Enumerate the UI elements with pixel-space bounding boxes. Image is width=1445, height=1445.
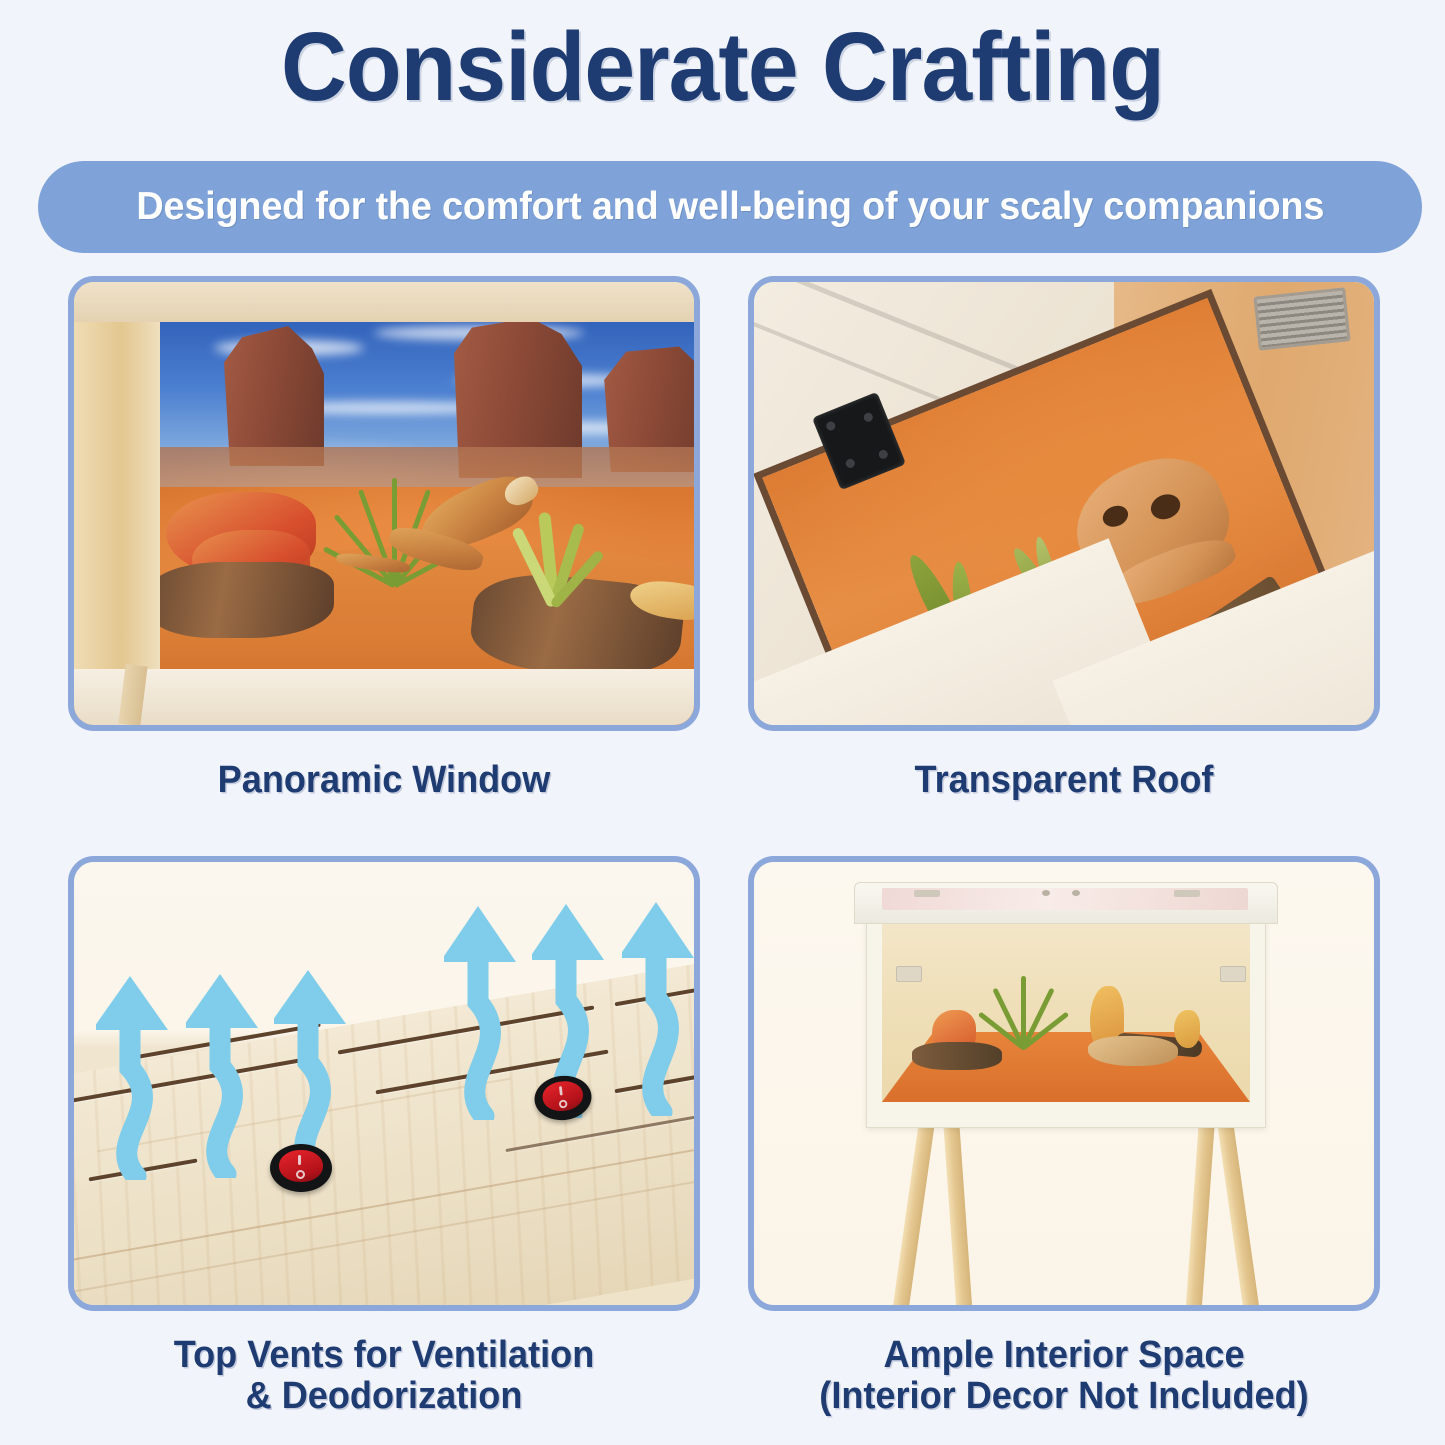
switch-on-marking (559, 1086, 563, 1095)
decor-rock (1088, 1036, 1178, 1066)
feature-card-panoramic-window (68, 276, 700, 731)
side-vent (1220, 966, 1246, 982)
mesa-rock-formation (224, 326, 324, 466)
feature-grid: Panoramic Window (0, 0, 1445, 1445)
photo-top-vents (74, 862, 694, 1305)
caption-ample-interior-space: Ample Interior Space (Interior Decor Not… (745, 1335, 1383, 1417)
caption-transparent-roof: Transparent Roof (764, 760, 1364, 801)
switch-on-marking (298, 1155, 301, 1165)
airflow-arrow-icon (186, 948, 270, 1178)
feature-card-ample-interior-space (748, 856, 1380, 1311)
switch-off-marking (559, 1099, 568, 1108)
power-switch[interactable] (1072, 890, 1080, 896)
photo-transparent-roof (754, 282, 1374, 725)
switch-off-marking (296, 1170, 305, 1179)
airflow-arrow-icon (96, 950, 180, 1180)
ventilation-grille (1253, 287, 1350, 350)
decor-small-reptile (1174, 1010, 1200, 1048)
cabinet-left-frame (74, 282, 160, 674)
caption-panoramic-window: Panoramic Window (84, 760, 684, 801)
cabinet-bottom-rail (74, 669, 694, 725)
decor-driftwood (912, 1042, 1002, 1070)
decor-succulent-plant (498, 512, 608, 608)
power-switch[interactable] (1042, 890, 1050, 896)
airflow-arrow-icon (444, 880, 528, 1120)
feature-card-top-vents (68, 856, 700, 1311)
power-switch[interactable] (270, 1144, 332, 1192)
airflow-arrow-icon (622, 876, 700, 1116)
side-vent (896, 966, 922, 982)
caption-top-vents: Top Vents for Ventilation & Deodorizatio… (65, 1335, 703, 1417)
feature-card-transparent-roof (748, 276, 1380, 731)
top-vent-slot (914, 890, 940, 897)
photo-panoramic-window (74, 282, 694, 725)
top-vent-slot (1174, 890, 1200, 897)
decor-fern-plant (992, 976, 1054, 1052)
decor-driftwood (148, 562, 334, 638)
cabinet-interior (882, 924, 1250, 1102)
airflow-arrow-icon (274, 944, 358, 1174)
cabinet-top-frame (74, 282, 694, 322)
photo-full-enclosure (754, 862, 1374, 1305)
